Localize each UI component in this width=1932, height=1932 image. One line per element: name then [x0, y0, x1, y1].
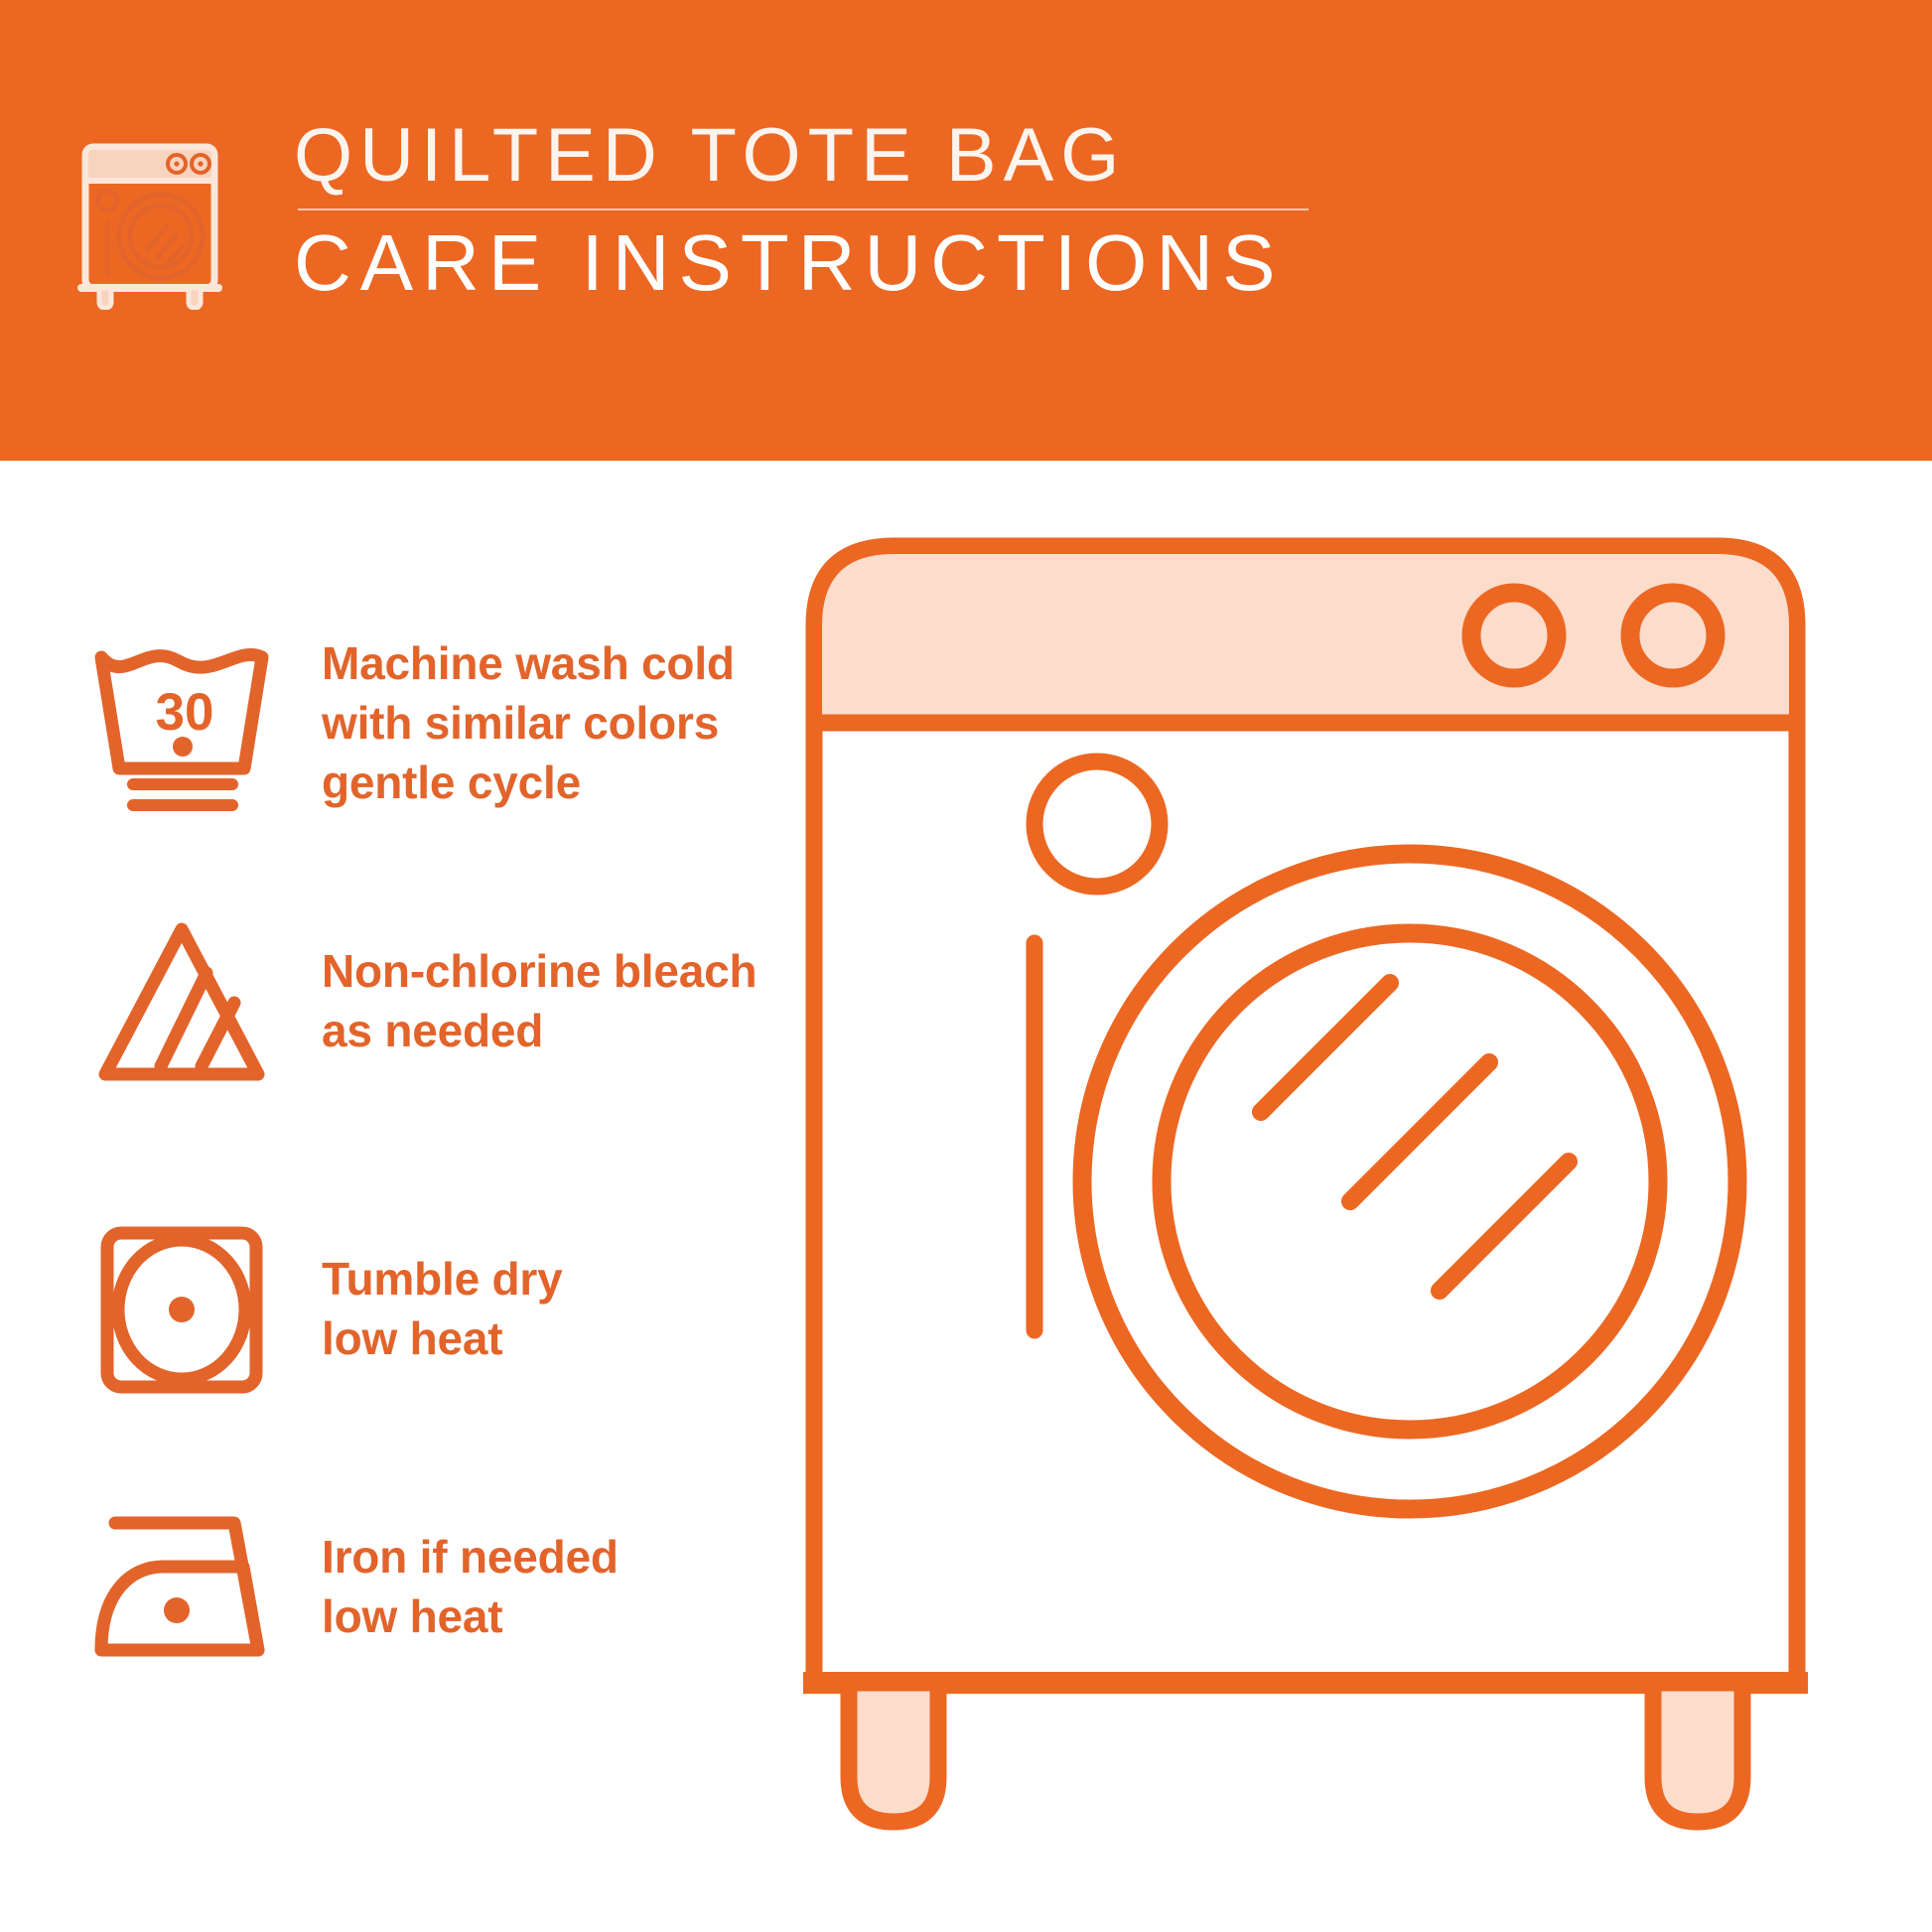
wash-temperature-label: 30 — [156, 683, 214, 742]
care-text-line: gentle cycle — [322, 754, 735, 813]
non-chlorine-bleach-triangle-icon — [87, 907, 286, 1096]
control-panel — [822, 554, 1789, 723]
care-item-label: Tumble dry low heat — [322, 1250, 563, 1369]
page-subtitle: CARE INSTRUCTIONS — [294, 222, 1326, 304]
header-content: QUILTED TOTE BAG CARE INSTRUCTIONS — [77, 117, 1326, 310]
care-text-line: Iron if needed — [322, 1528, 619, 1587]
care-text-line: with similar colors — [322, 694, 735, 754]
tumble-dry-low-heat-icon — [87, 1215, 286, 1404]
care-text-line: low heat — [322, 1310, 563, 1369]
title-divider — [298, 208, 1309, 210]
page-header: QUILTED TOTE BAG CARE INSTRUCTIONS — [0, 0, 1932, 461]
care-text-line: low heat — [322, 1587, 619, 1647]
page-title: QUILTED TOTE BAG — [294, 117, 1326, 195]
washing-machine-icon — [77, 125, 236, 310]
washing-machine-illustration — [755, 496, 1857, 1916]
foot-left — [849, 1683, 938, 1822]
care-item-label: Iron if needed low heat — [322, 1528, 619, 1647]
care-item-label: Machine wash cold with similar colors ge… — [322, 634, 735, 812]
iron-low-heat-icon — [87, 1493, 286, 1682]
care-item-label: Non-chlorine bleach as needed — [322, 942, 757, 1061]
wash-tub-30-gentle-icon: 30 — [87, 629, 286, 818]
header-title-block: QUILTED TOTE BAG CARE INSTRUCTIONS — [294, 117, 1326, 303]
care-text-line: Non-chlorine bleach — [322, 942, 757, 1002]
foot-right — [1653, 1683, 1742, 1822]
care-text-line: as needed — [322, 1002, 757, 1061]
care-text-line: Machine wash cold — [322, 634, 735, 694]
care-text-line: Tumble dry — [322, 1250, 563, 1310]
